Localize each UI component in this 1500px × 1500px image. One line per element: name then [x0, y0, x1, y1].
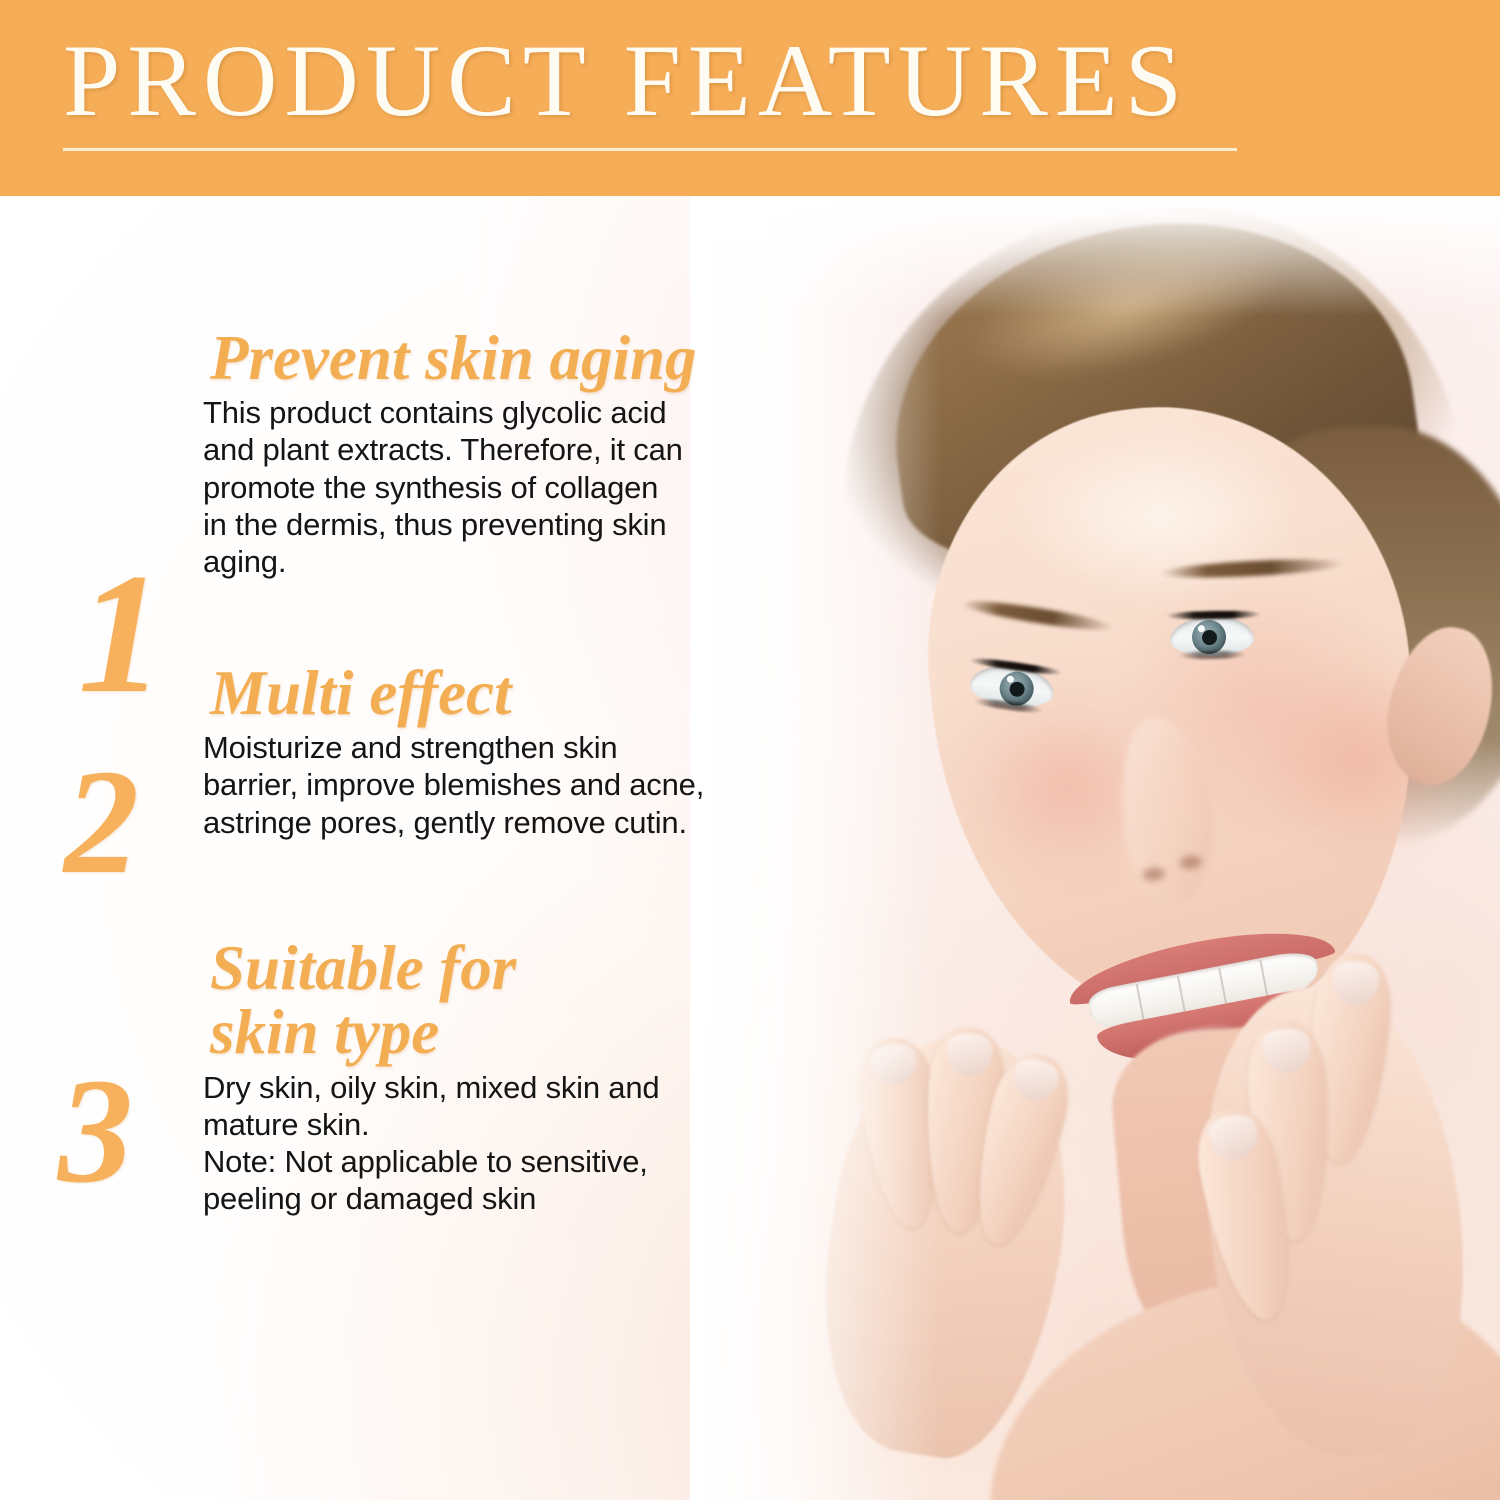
feature-number-1: 1 [78, 548, 164, 720]
header-underline [63, 148, 1237, 151]
feature-body-1: Prevent skin aging This product contains… [203, 326, 743, 580]
forehead-highlight [1010, 426, 1310, 606]
product-features-banner: PRODUCT FEATURES 1 Prevent skin aging Th… [0, 0, 1500, 1500]
eye-left [968, 660, 1057, 711]
header-band: PRODUCT FEATURES [0, 0, 1500, 196]
feature-body-2: Multi effect Moisturize and strengthen s… [203, 661, 743, 841]
model-photo [690, 196, 1500, 1500]
feature-title-2: Multi effect [210, 661, 743, 725]
fingernail [1009, 1056, 1061, 1105]
eye-right [1170, 615, 1255, 656]
feature-text-2: Moisturize and strengthen skin barrier, … [203, 729, 743, 841]
fingernail [868, 1042, 919, 1087]
feature-list: 1 Prevent skin aging This product contai… [0, 196, 760, 1500]
feature-body-3: Suitable for skin type Dry skin, oily sk… [203, 936, 743, 1217]
feature-title-3: Suitable for skin type [210, 936, 743, 1065]
feature-number-3: 3 [58, 1056, 133, 1206]
page-title: PRODUCT FEATURES [63, 30, 1189, 133]
nostril-left [1142, 867, 1165, 882]
nostril-right [1179, 855, 1202, 870]
fingernail [945, 1033, 993, 1077]
feature-text-3: Dry skin, oily skin, mixed skin and matu… [203, 1069, 743, 1218]
fingernail [1206, 1112, 1262, 1164]
feature-text-1: This product contains glycolic acid and … [203, 394, 743, 580]
fingernail [1331, 960, 1381, 1008]
feature-title-1: Prevent skin aging [210, 326, 743, 390]
fingernail [1261, 1028, 1311, 1074]
feature-number-2: 2 [64, 747, 139, 897]
eye-glint [1198, 625, 1205, 632]
